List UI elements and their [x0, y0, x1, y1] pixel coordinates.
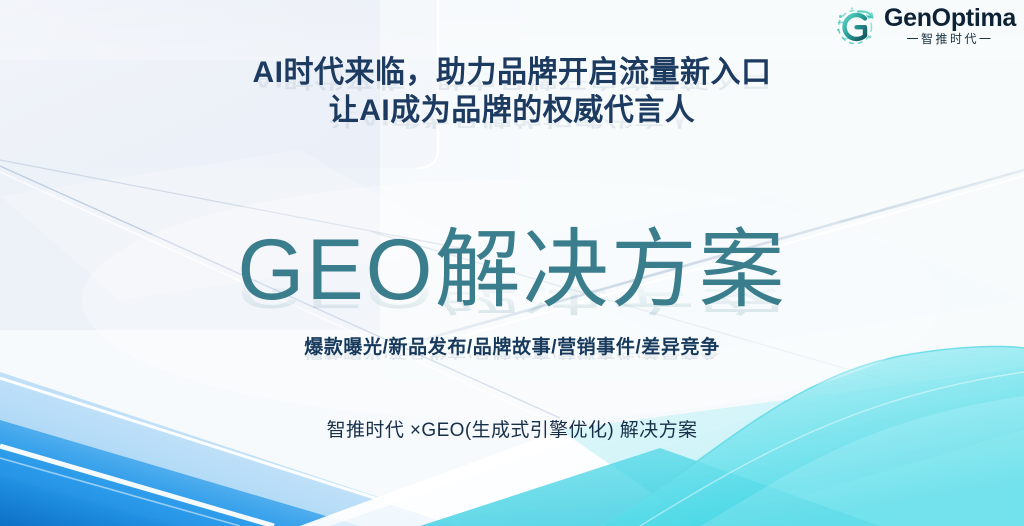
gen-optima-g-mark-icon — [832, 3, 878, 49]
brand-logo: GenOptima 一智推时代一 — [832, 3, 1016, 49]
headline-line-1: AI时代来临，助力品牌开启流量新入口 — [0, 54, 1024, 92]
subtitle-keywords-text: 爆款曝光/新品发布/品牌故事/营销事件/差异竞争 — [304, 336, 720, 360]
slide-content: AI时代来临，助力品牌开启流量新入口 让AI成为品牌的权威代言人 GEO解决方案… — [0, 0, 1024, 526]
logo-tagline: 一智推时代一 — [906, 32, 993, 47]
main-title: GEO解决方案 — [0, 222, 1024, 318]
presentation-slide: AI时代来临，助力品牌开启流量新入口 让AI成为品牌的权威代言人 GEO解决方案… — [0, 0, 1024, 526]
main-title-text: GEO解决方案 — [237, 222, 786, 318]
slide-headline: AI时代来临，助力品牌开启流量新入口 让AI成为品牌的权威代言人 — [0, 54, 1024, 130]
footer-caption: 智推时代 ×GEO(生成式引擎优化) 解决方案 — [0, 418, 1024, 444]
subtitle-keywords: 爆款曝光/新品发布/品牌故事/营销事件/差异竞争 — [0, 336, 1024, 360]
headline-line-2: 让AI成为品牌的权威代言人 — [0, 92, 1024, 130]
logo-name: GenOptima — [884, 5, 1016, 31]
logo-wordmark: GenOptima 一智推时代一 — [884, 5, 1016, 47]
